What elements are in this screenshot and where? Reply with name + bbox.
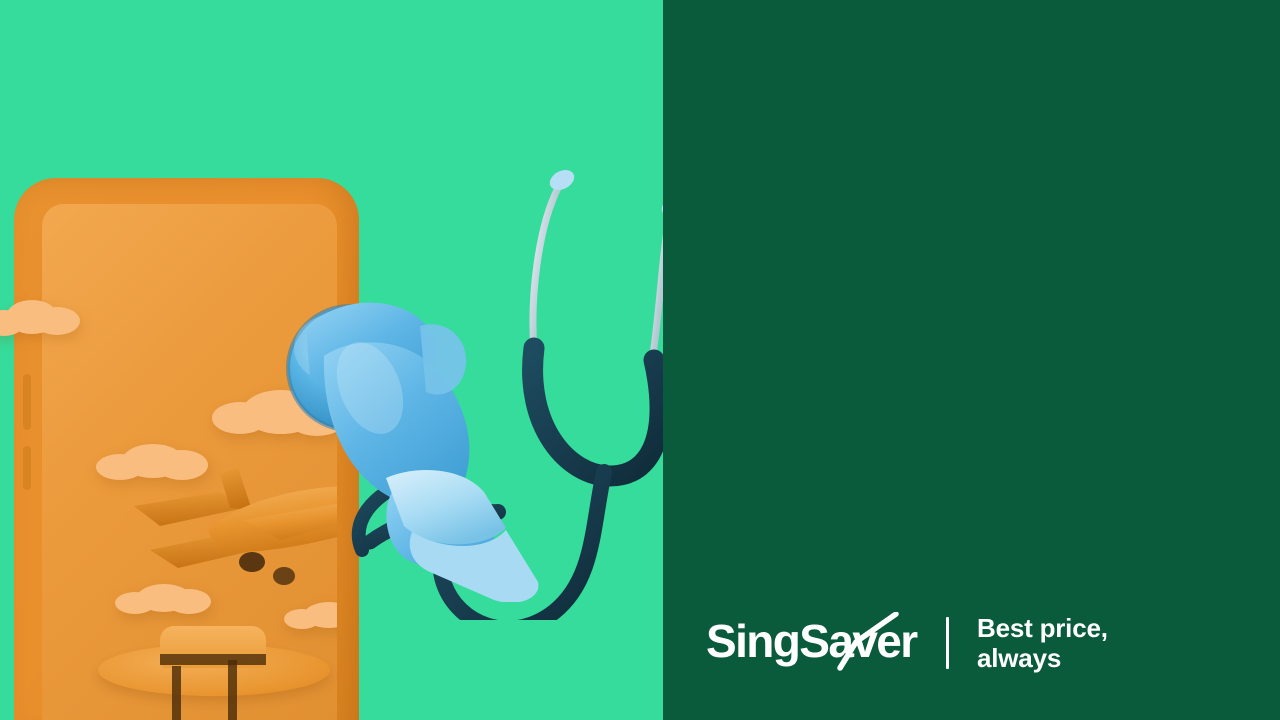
brand-tagline: Best price, always bbox=[977, 613, 1108, 673]
singsaver-logo[interactable]: SingSaver bbox=[706, 612, 922, 674]
sun-hat-band bbox=[160, 654, 266, 665]
tagline-line-1: Best price, bbox=[977, 613, 1108, 643]
suitcase-handle-rod-icon bbox=[172, 666, 181, 720]
brand-lockup: SingSaver Best price, always bbox=[706, 612, 1108, 674]
cloud-icon bbox=[6, 300, 58, 334]
phone-side-button-icon bbox=[23, 374, 31, 430]
illustration-panel bbox=[0, 0, 663, 720]
promo-banner: Elevate Your Wanderlust With Year-Round … bbox=[0, 0, 1280, 720]
gloved-hand-icon bbox=[300, 292, 570, 602]
logo-divider bbox=[946, 617, 949, 669]
phone-side-button-lower-icon bbox=[23, 446, 31, 490]
suitcase-handle-rod-icon bbox=[228, 660, 237, 720]
tagline-line-2: always bbox=[977, 643, 1108, 673]
